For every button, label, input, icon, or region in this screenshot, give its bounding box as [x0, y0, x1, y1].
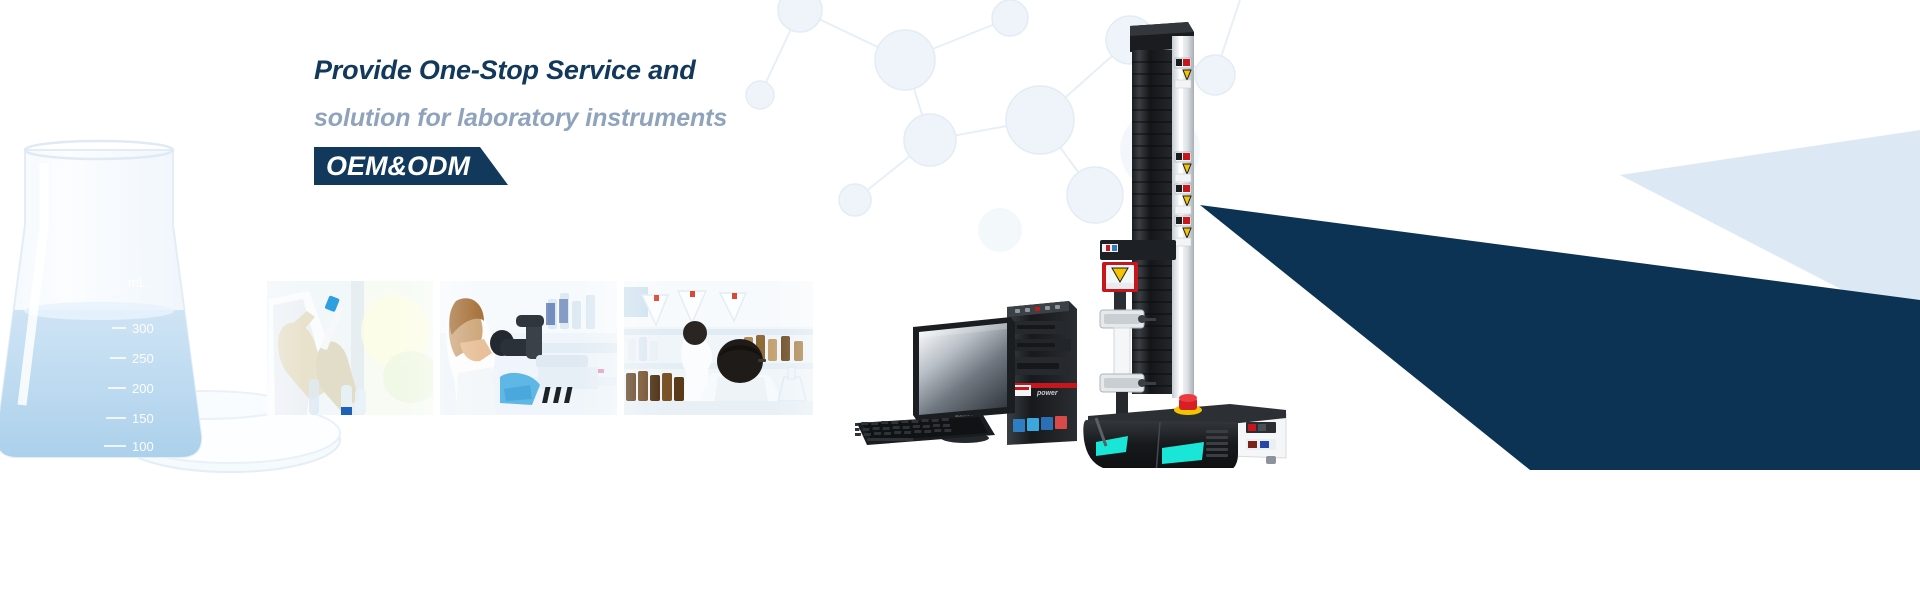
headline-block: Provide One-Stop Service and solution fo…	[314, 57, 1074, 185]
svg-text:mL: mL	[128, 275, 146, 290]
badge-arrow-tail	[480, 147, 508, 185]
svg-text:power: power	[1036, 390, 1059, 397]
light-blue-triangle	[1620, 130, 1920, 330]
oem-odm-badge-label: OEM&ODM	[314, 147, 480, 185]
oem-odm-badge: OEM&ODM	[314, 147, 480, 185]
svg-text:150: 150	[132, 411, 154, 426]
photo-lab-bench	[624, 281, 813, 415]
photo-fade-overlay	[440, 281, 617, 415]
pc-tower: power	[1007, 301, 1077, 445]
universal-testing-machine	[1080, 18, 1300, 468]
tester-base	[1083, 394, 1286, 468]
photo-fade-overlay	[624, 281, 813, 415]
headline-line-1: Provide One-Stop Service and	[314, 57, 1074, 84]
photo-fade-overlay	[267, 281, 433, 415]
svg-text:250: 250	[132, 351, 154, 366]
tester-column	[1132, 50, 1172, 394]
desktop-computer-set: power power	[855, 295, 1085, 450]
lab-photo-strip	[267, 281, 813, 415]
svg-text:100: 100	[132, 439, 154, 454]
headline-line-2: solution for laboratory instruments	[314, 106, 1074, 131]
promotional-banner: mL 300 250 200 150 100 Provide One-Stop …	[0, 0, 1920, 597]
svg-text:200: 200	[132, 381, 154, 396]
svg-text:300: 300	[132, 321, 154, 336]
photo-pipetting	[267, 281, 433, 415]
navy-arrow-triangle	[1200, 205, 1920, 470]
photo-microscope	[440, 281, 617, 415]
